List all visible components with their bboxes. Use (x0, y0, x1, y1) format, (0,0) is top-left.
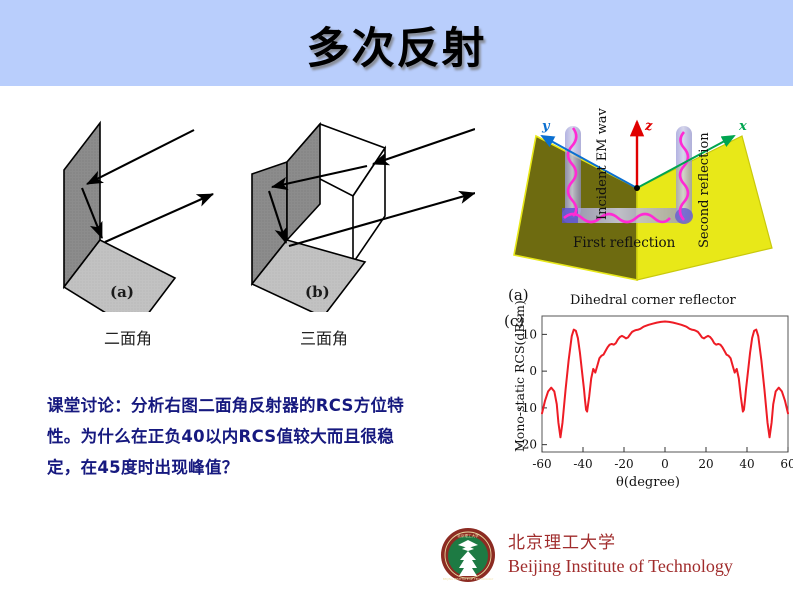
logo-bottom-text: BEIJING INSTITUTE OF TECHNOLOGY (443, 577, 494, 581)
footer-branding: 北京理工大学 BEIJING INSTITUTE OF TECHNOLOGY 北… (440, 524, 793, 588)
figure-caption-a: (a) (110, 283, 134, 301)
chart-y-tick-label: 10 (522, 327, 537, 341)
annotation-second-reflection: Second reflection (697, 132, 712, 248)
dihedral-reflected-ray-2 (105, 194, 213, 242)
page-title: 多次反射 (0, 14, 793, 76)
rcs-chart: (c) Mono-static RCS(dBsm) θ(degree) -60-… (500, 300, 793, 495)
logo-top-text: 北京理工大学 (457, 533, 479, 538)
figure-label-trihedral: 三面角 (300, 325, 348, 349)
trihedral-reflector-figure (252, 124, 475, 312)
chart-plot-frame (542, 316, 788, 452)
chart-y-tick-label: 0 (529, 364, 537, 378)
discussion-line-2: 性。为什么在正负40以内RCS值较大而且很稳 (47, 421, 499, 452)
chart-y-tick-label: -10 (518, 401, 537, 415)
dihedral-incident-ray (87, 130, 194, 184)
beam-corner-right (675, 208, 693, 224)
chart-x-tick-label: -20 (614, 457, 633, 471)
chart-x-tick-label: 0 (661, 457, 669, 471)
discussion-line-1: 课堂讨论：分析右图二面角反射器的RCS方位特 (47, 390, 499, 421)
chart-x-tick-label: 20 (698, 457, 713, 471)
dihedral-3d-svg: y x z Incident EM wave Second reflection… (500, 108, 793, 308)
slide-root: 多次反射 (0, 0, 793, 595)
chart-plot-area: -60-40-200204060100-10-20 (518, 316, 793, 471)
axis-z-label: z (644, 119, 653, 134)
axis-y-label: y (541, 119, 551, 134)
annotation-first-reflection: First reflection (573, 235, 676, 251)
figure-caption-b: (b) (305, 283, 330, 301)
axis-x-label: x (738, 119, 747, 134)
chart-x-axis-label: θ(degree) (616, 475, 680, 490)
dihedral-reflector-figure (64, 123, 213, 312)
chart-x-tick-label: 60 (780, 457, 793, 471)
chart-x-tick-label: -40 (573, 457, 592, 471)
discussion-line-3: 定，在45度时出现峰值？ (47, 452, 499, 483)
org-name-en: Beijing Institute of Technology (508, 556, 733, 577)
rcs-chart-svg: (c) Mono-static RCS(dBsm) θ(degree) -60-… (500, 300, 793, 495)
chart-x-tick-label: -60 (532, 457, 551, 471)
trihedral-incident-ray (373, 129, 475, 164)
bit-logo: 北京理工大学 BEIJING INSTITUTE OF TECHNOLOGY (440, 527, 496, 583)
figure-label-dihedral: 二面角 (104, 325, 152, 349)
chart-y-axis-label: Mono-static RCS(dBsm) (512, 300, 527, 452)
dihedral-3d-illustration: y x z Incident EM wave Second reflection… (500, 108, 793, 308)
axis-origin-dot (634, 185, 640, 191)
org-name-cn: 北京理工大学 (508, 528, 616, 553)
corner-reflector-line-drawings (55, 112, 475, 312)
discussion-text-block: 课堂讨论：分析右图二面角反射器的RCS方位特 性。为什么在正负40以内RCS值较… (47, 390, 499, 483)
incident-beam-tube (565, 126, 581, 218)
second-reflection-beam-tube (676, 126, 692, 222)
slide-header-band: 多次反射 (0, 0, 793, 86)
chart-x-tick-label: 40 (739, 457, 754, 471)
annotation-incident-em-wave: Incident EM wave (595, 108, 610, 220)
chart-y-tick-label: -20 (518, 438, 537, 452)
reflector-diagrams-svg (55, 112, 475, 312)
